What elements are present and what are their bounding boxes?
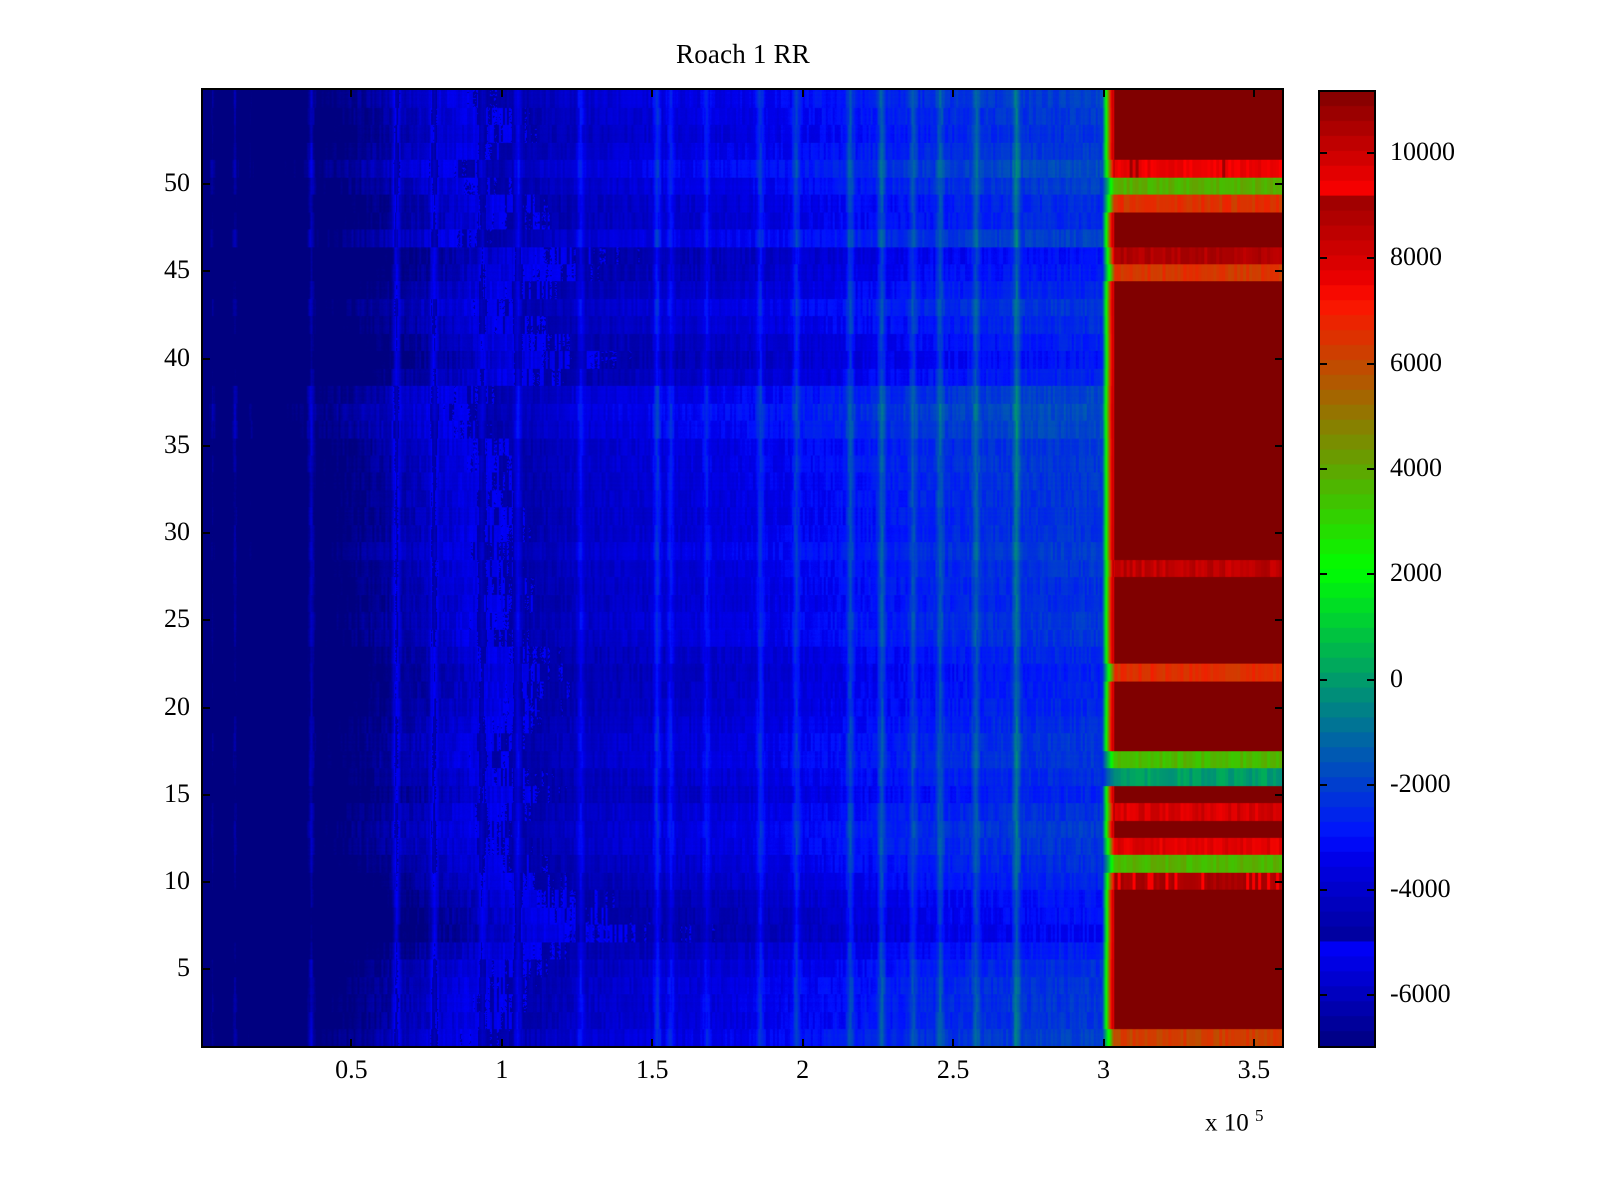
x-axis-tick-label: 0.5 bbox=[291, 1055, 411, 1085]
y-axis-tick-label: 25 bbox=[70, 604, 190, 634]
figure-canvas: Roach 1 RR x 10 5 0.511.522.533.55101520… bbox=[0, 0, 1600, 1200]
x-axis-tick-label: 1.5 bbox=[592, 1055, 712, 1085]
y-axis-tick bbox=[201, 183, 210, 185]
y-axis-tick-label: 15 bbox=[70, 779, 190, 809]
colorbar-tick bbox=[1367, 152, 1376, 154]
colorbar-tick bbox=[1318, 573, 1327, 575]
y-axis-tick bbox=[1275, 532, 1284, 534]
x-axis-tick-label: 1 bbox=[442, 1055, 562, 1085]
y-axis-tick bbox=[1275, 445, 1284, 447]
colorbar-tick bbox=[1367, 889, 1376, 891]
colorbar-tick bbox=[1367, 573, 1376, 575]
y-axis-tick bbox=[201, 707, 210, 709]
x-axis-tick-label: 2.5 bbox=[893, 1055, 1013, 1085]
x-axis-tick bbox=[802, 1039, 804, 1048]
x-axis-tick bbox=[952, 88, 954, 97]
colorbar-tick-label: 2000 bbox=[1390, 558, 1442, 588]
y-axis-tick bbox=[201, 794, 210, 796]
colorbar-tick bbox=[1318, 889, 1327, 891]
y-axis-tick bbox=[201, 358, 210, 360]
colorbar-tick-label: 10000 bbox=[1390, 137, 1455, 167]
y-axis-tick bbox=[201, 445, 210, 447]
y-axis-tick bbox=[1275, 881, 1284, 883]
colorbar-tick bbox=[1318, 152, 1327, 154]
y-axis-tick bbox=[201, 881, 210, 883]
colorbar-tick-label: -6000 bbox=[1390, 979, 1451, 1009]
y-axis-tick bbox=[201, 532, 210, 534]
y-axis-tick-label: 30 bbox=[70, 517, 190, 547]
x-axis-tick bbox=[1253, 1039, 1255, 1048]
x-axis-tick bbox=[651, 1039, 653, 1048]
colorbar-tick bbox=[1367, 363, 1376, 365]
y-axis-tick bbox=[1275, 619, 1284, 621]
colorbar-tick bbox=[1367, 468, 1376, 470]
y-axis-tick bbox=[201, 270, 210, 272]
x-axis-tick bbox=[501, 88, 503, 97]
y-axis-tick bbox=[1275, 968, 1284, 970]
colorbar-tick-label: 4000 bbox=[1390, 453, 1442, 483]
colorbar-tick bbox=[1318, 784, 1327, 786]
colorbar-tick-label: 8000 bbox=[1390, 242, 1442, 272]
x-axis-tick bbox=[651, 88, 653, 97]
colorbar-tick bbox=[1318, 257, 1327, 259]
colorbar-tick bbox=[1318, 994, 1327, 996]
y-axis-tick-label: 50 bbox=[70, 168, 190, 198]
colorbar-tick-label: -4000 bbox=[1390, 874, 1451, 904]
colorbar-tick bbox=[1367, 784, 1376, 786]
y-axis-tick-label: 40 bbox=[70, 343, 190, 373]
y-axis-tick bbox=[201, 968, 210, 970]
x-axis-tick bbox=[952, 1039, 954, 1048]
colorbar-tick bbox=[1318, 363, 1327, 365]
x-axis-tick bbox=[802, 88, 804, 97]
x-axis-tick bbox=[350, 1039, 352, 1048]
x-axis-exponent: x 10 5 bbox=[1205, 1102, 1264, 1137]
y-axis-tick-label: 5 bbox=[70, 953, 190, 983]
colorbar-tick bbox=[1367, 679, 1376, 681]
colorbar-tick bbox=[1318, 679, 1327, 681]
colorbar-tick-label: 6000 bbox=[1390, 348, 1442, 378]
x-axis-tick-label: 3 bbox=[1044, 1055, 1164, 1085]
colorbar-tick bbox=[1318, 468, 1327, 470]
y-axis-tick bbox=[1275, 270, 1284, 272]
y-axis-tick-label: 20 bbox=[70, 692, 190, 722]
colorbar-tick bbox=[1367, 257, 1376, 259]
x-axis-tick bbox=[1103, 1039, 1105, 1048]
x-axis-tick-label: 3.5 bbox=[1194, 1055, 1314, 1085]
x-axis-tick bbox=[350, 88, 352, 97]
colorbar-tick-label: 0 bbox=[1390, 664, 1403, 694]
y-axis-tick-label: 45 bbox=[70, 255, 190, 285]
y-axis-tick bbox=[1275, 183, 1284, 185]
colorbar-tick-label: -2000 bbox=[1390, 769, 1451, 799]
x-axis-tick bbox=[501, 1039, 503, 1048]
y-axis-tick-label: 10 bbox=[70, 866, 190, 896]
y-axis-tick bbox=[201, 619, 210, 621]
y-axis-tick bbox=[1275, 794, 1284, 796]
heatmap-image[interactable] bbox=[203, 90, 1282, 1046]
colorbar-gradient bbox=[1320, 92, 1374, 1046]
y-axis-tick bbox=[1275, 707, 1284, 709]
colorbar-tick bbox=[1367, 994, 1376, 996]
x-axis-tick bbox=[1103, 88, 1105, 97]
page-title: Roach 1 RR bbox=[0, 38, 1486, 70]
y-axis-tick-label: 35 bbox=[70, 430, 190, 460]
x-axis-tick-label: 2 bbox=[743, 1055, 863, 1085]
heatmap-axes[interactable] bbox=[201, 88, 1284, 1048]
x-axis-tick bbox=[1253, 88, 1255, 97]
y-axis-tick bbox=[1275, 358, 1284, 360]
colorbar[interactable] bbox=[1318, 90, 1376, 1048]
